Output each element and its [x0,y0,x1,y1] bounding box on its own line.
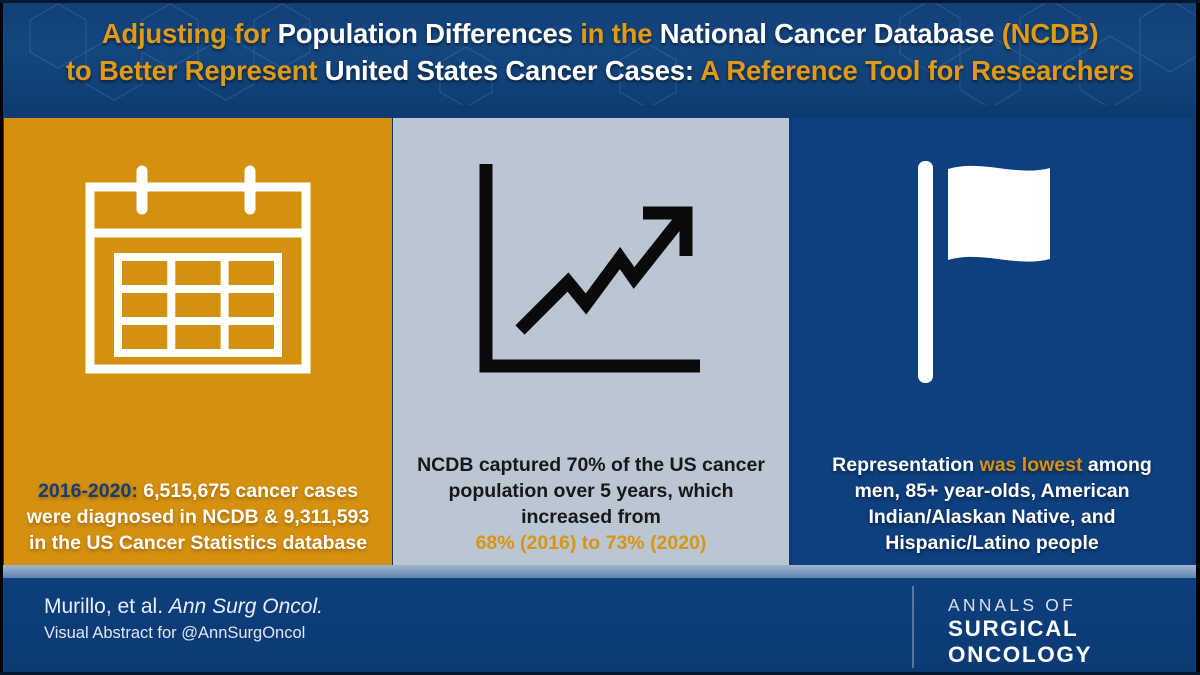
flag-icon [904,155,1080,387]
title-line-2: to Better Represent United States Cancer… [66,54,1134,89]
panel-cases-caption-area: 2016-2020: 6,515,675 cancer cases were d… [4,479,392,557]
title-seg-reference-tool: A Reference Tool for Researchers [700,55,1134,86]
calendar-icon [80,165,316,377]
upward-trend-chart-icon [468,158,714,384]
footer-bar: Murillo, et al. Ann Surg Oncol. Visual A… [0,578,1200,675]
journal-logo-line-3: ONCOLOGY [948,642,1092,668]
panel-representation: Representation was lowest among men, 85+… [792,118,1192,565]
title-line-1: Adjusting for Population Differences in … [102,17,1099,52]
divider-strip [0,565,1200,578]
title-seg-population-differences: Population Differences [278,18,581,49]
title-seg-adjusting-for: Adjusting for [102,18,278,49]
title-seg-to-better-represent: to Better Represent [66,55,325,86]
panel-capture-rate: NCDB captured 70% of the US cancer popul… [393,118,789,565]
title-block: Adjusting for Population Differences in … [0,0,1200,105]
header-banner: Adjusting for Population Differences in … [0,0,1200,105]
panel-capture-text: NCDB captured 70% of the US cancer popul… [417,454,765,528]
journal-logo-line-1: ANNALS OF [948,595,1092,616]
panel-capture-caption: NCDB captured 70% of the US cancer popul… [411,453,771,557]
title-seg-in-the: in the [580,18,660,49]
right-edge-border [1196,0,1200,675]
panel-representation-highlight: was lowest [980,454,1083,476]
panel-representation-caption-area: Representation was lowest among men, 85+… [792,453,1192,557]
panel-representation-caption: Representation was lowest among men, 85+… [810,453,1174,557]
panel-capture-icon-area [393,118,789,423]
journal-logo: ANNALS OF SURGICAL ONCOLOGY [948,595,1092,668]
panel-cases-period: 2016-2020: [38,480,138,502]
panel-capture-caption-area: NCDB captured 70% of the US cancer popul… [393,453,789,557]
panel-cases-icon-area [4,118,392,423]
citation-authors: Murillo, et al. [44,595,169,618]
title-seg-national-cancer-database: National Cancer Database [660,18,1002,49]
journal-logo-line-2: SURGICAL [948,616,1092,642]
top-edge-border [0,0,1200,3]
panels-row: 2016-2020: 6,515,675 cancer cases were d… [4,118,1192,565]
panel-representation-icon-area [792,118,1192,423]
panel-cases: 2016-2020: 6,515,675 cancer cases were d… [4,118,392,565]
left-edge-border [0,0,3,675]
title-seg-ncdb: (NCDB) [1002,18,1099,49]
footer-divider [912,586,914,668]
visual-abstract-handle: Visual Abstract for @AnnSurgOncol [44,623,323,644]
title-seg-us-cancer-cases: United States Cancer Cases: [325,55,700,86]
visual-abstract-poster: Adjusting for Population Differences in … [0,0,1200,675]
panel-capture-years: 68% (2016) to 73% (2020) [476,532,707,554]
citation-block: Murillo, et al. Ann Surg Oncol. Visual A… [44,594,323,645]
panel-cases-caption: 2016-2020: 6,515,675 cancer cases were d… [22,479,374,557]
panel-representation-lead: Representation [832,454,979,476]
citation-journal: Ann Surg Oncol. [169,595,323,618]
citation-line: Murillo, et al. Ann Surg Oncol. [44,594,323,620]
